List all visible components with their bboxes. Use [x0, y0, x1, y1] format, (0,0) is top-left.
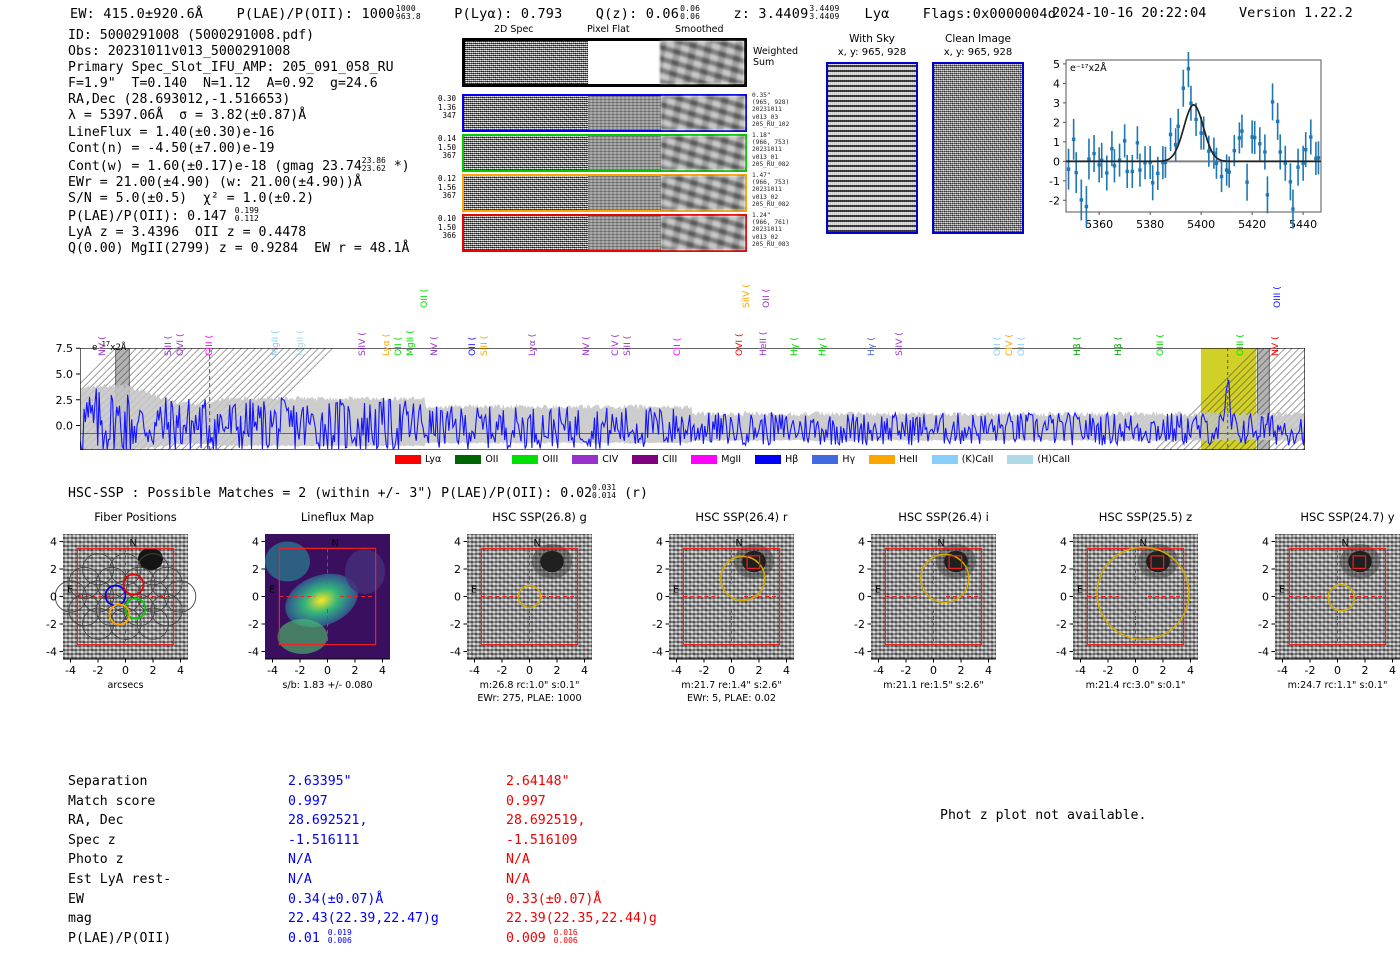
svg-text:2: 2: [756, 664, 763, 677]
hsc-panel-title-3: HSC SSP(26.4) r: [649, 510, 834, 524]
hsc-panel-title-4: HSC SSP(26.4) i: [851, 510, 1036, 524]
legend-item-Hβ: Hβ: [755, 454, 798, 465]
legend-swatch: [455, 455, 481, 464]
emission-line-label-10: OII (: [419, 289, 430, 308]
info-lambda-sigma: λ = 5397.06Å σ = 3.82(±0.87)Å: [68, 108, 410, 124]
strip-row-1-metrics: 0.301.36347: [426, 95, 456, 121]
svg-text:7.5: 7.5: [56, 342, 74, 355]
legend-swatch: [632, 455, 658, 464]
match-table-value: 0.01 0.0190.006: [288, 929, 439, 949]
info-lineflux: LineFlux = 1.40(±0.30)e-16: [68, 125, 410, 141]
compass-n: N: [130, 538, 137, 549]
match-plae-range: 0.0190.006: [328, 929, 352, 945]
svg-text:0: 0: [858, 591, 865, 604]
emission-line-label-11: NV (: [429, 336, 440, 356]
svg-text:0: 0: [930, 664, 937, 677]
legend-swatch: [572, 455, 598, 464]
emission-line-label-28: CIV (: [1004, 334, 1015, 356]
emission-line-label-20: SiIV (: [741, 284, 752, 308]
legend-item-OII: OII: [455, 454, 498, 465]
info-mgii: Q(0.00) MgII(2799) z = 0.9284 EW r = 48.…: [68, 241, 410, 257]
info-cont-w-range: 23.8623.62: [362, 157, 386, 173]
svg-text:4: 4: [985, 664, 992, 677]
emission-line-label-2: OVI (: [175, 333, 186, 356]
header-timestamp-version: 2024-10-16 20:22:04 Version 1.22.2: [1052, 5, 1353, 21]
info-obs: Obs: 20231011v013_5000291008: [68, 44, 410, 60]
svg-text:0: 0: [454, 591, 461, 604]
strip-row-fiber-2: [462, 134, 747, 172]
legend-item-Hγ: Hγ: [812, 454, 855, 465]
svg-text:-4: -4: [1075, 664, 1086, 677]
strip-row-2-meta: 1.18"(966, 753)20231011v013_01205_RU_082: [752, 132, 789, 168]
match-table-value: 0.009 0.0160.006: [506, 929, 657, 949]
match-table-col-2: 2.64148"0.99728.692519, -1.516109N/AN/A0…: [506, 772, 657, 948]
svg-text:0: 0: [1132, 664, 1139, 677]
svg-text:-1: -1: [1049, 175, 1060, 188]
info-z-solutions: LyA z = 3.4396 OII z = 0.4478: [68, 225, 410, 241]
svg-text:4: 4: [858, 536, 865, 549]
header-datetime: 2024-10-16 20:22:04: [1052, 5, 1206, 21]
svg-text:4: 4: [1187, 664, 1194, 677]
info-cont-n: Cont(n) = -4.50(±7.00)e-19: [68, 141, 410, 157]
match-table-label: P(LAE)/P(OII): [68, 929, 171, 949]
emission-line-label-23: Hγ (: [789, 337, 800, 356]
svg-text:4: 4: [50, 536, 57, 549]
svg-text:2.5: 2.5: [56, 394, 74, 407]
emission-line-label-32: OIII (: [1155, 334, 1166, 356]
svg-text:2: 2: [656, 563, 663, 576]
hsc-panel-caption1-2: m:26.8 rc:1.0" s:0.1": [427, 679, 632, 692]
hsc-panel-0[interactable]: NE-4-2024420-2-4: [33, 532, 204, 699]
strip-row-3-meta: 1.47"(966, 753)20231011v013_02205_RU_082: [752, 172, 789, 208]
compass-n: N: [1342, 538, 1349, 549]
legend-item-(H)CaII: (H)CaII: [1007, 454, 1070, 465]
match-table-value: 0.34(±0.07)Å: [288, 890, 439, 910]
legend-swatch: [869, 455, 895, 464]
match-table-value: 28.692519, -1.516109: [506, 811, 657, 850]
svg-text:4: 4: [379, 664, 386, 677]
svg-text:-4: -4: [1258, 646, 1269, 659]
svg-text:0: 0: [1053, 155, 1060, 168]
svg-text:-2: -2: [46, 618, 57, 631]
photoz-note: Phot z plot not available.: [940, 808, 1146, 823]
match-table-label: Spec z: [68, 831, 171, 851]
svg-text:-4: -4: [469, 664, 480, 677]
legend-label: OII: [485, 454, 498, 465]
info-radec: RA,Dec (28.693012,-1.516653): [68, 92, 410, 108]
svg-text:2: 2: [1160, 664, 1167, 677]
svg-text:2: 2: [252, 563, 259, 576]
legend-label: CIII: [662, 454, 677, 465]
svg-text:0: 0: [252, 591, 259, 604]
svg-text:2: 2: [554, 664, 561, 677]
svg-text:2: 2: [1053, 116, 1060, 129]
svg-text:-4: -4: [450, 646, 461, 659]
weighted-sum-label-2: Sum: [753, 57, 774, 68]
emission-line-label-15: NV (: [581, 336, 592, 356]
cutout-title-with-sky: With Sky: [822, 33, 922, 45]
svg-text:-4: -4: [854, 646, 865, 659]
info-plae: P(LAE)/P(OII): 0.147 0.1990.112: [68, 207, 410, 225]
legend-label: Hγ: [842, 454, 855, 465]
legend-label: (K)CaII: [962, 454, 994, 465]
legend-swatch: [755, 455, 781, 464]
hsc-panel-caption2-2: EWr: 275, PLAE: 1000: [427, 692, 632, 705]
hsc-panel-caption1-4: m:21.1 re:1.5" s:2.6": [831, 679, 1036, 692]
svg-text:-2: -2: [699, 664, 710, 677]
compass-e: E: [673, 585, 679, 596]
emission-line-label-16: CIV (: [610, 334, 621, 356]
header-flags: Flags:0x0000004d: [923, 6, 1056, 22]
svg-text:5420: 5420: [1238, 218, 1266, 231]
compass-n: N: [534, 538, 541, 549]
emission-line-label-18: CII (: [672, 338, 683, 356]
emission-line-label-33: OIII (: [1235, 334, 1246, 356]
legend-item-HeII: HeII: [869, 454, 918, 465]
emission-line-label-5: MgII (: [295, 330, 306, 356]
svg-text:5400: 5400: [1187, 218, 1215, 231]
match-table-value: 22.43(22.39,22.47)g: [288, 909, 439, 929]
match-table-label: Photo z: [68, 850, 171, 870]
svg-text:-2: -2: [93, 664, 104, 677]
compass-n: N: [938, 538, 945, 549]
strip-row-fiber-3: [462, 174, 747, 212]
svg-text:2: 2: [454, 563, 461, 576]
info-primary-spec: Primary Spec_Slot_IFU_AMP: 205_091_058_R…: [68, 60, 410, 76]
legend-label: CIV: [602, 454, 618, 465]
svg-text:-4: -4: [65, 664, 76, 677]
compass-e: E: [67, 585, 73, 596]
strip-row-4-meta: 1.24"(966, 761)20231011v013_02205_RU_083: [752, 212, 789, 248]
hsc-panel-caption1-0: arcsecs: [23, 679, 228, 692]
svg-text:2: 2: [958, 664, 965, 677]
svg-text:-4: -4: [1277, 664, 1288, 677]
svg-text:-2: -2: [450, 618, 461, 631]
emission-line-label-31: Hβ (: [1113, 337, 1124, 356]
match-table-value: N/A: [506, 850, 657, 870]
emission-line-label-9: MgII (: [405, 330, 416, 356]
match-table-label: RA, Dec: [68, 811, 171, 831]
cutout-sub-with-sky: x, y: 965, 928: [822, 47, 922, 58]
svg-text:0: 0: [728, 664, 735, 677]
info-plae-range: 0.1990.112: [235, 207, 259, 223]
header-summary-line: EW: 415.0±920.6Å P(LAE)/P(OII): 10001000…: [70, 5, 1056, 22]
info-ewr: EWr = 21.00(±4.90) (w: 21.00(±4.90))Å: [68, 175, 410, 191]
emission-line-label-24: Hγ (: [817, 337, 828, 356]
svg-text:0: 0: [1262, 591, 1269, 604]
match-table-value: N/A: [288, 850, 439, 870]
svg-text:0: 0: [324, 664, 331, 677]
hsc-panel-2[interactable]: NE-4-2024420-2-4: [437, 532, 608, 699]
emission-line-label-0: NV (: [97, 336, 108, 356]
compass-e: E: [1077, 585, 1083, 596]
legend-label: Hβ: [785, 454, 798, 465]
svg-text:0: 0: [656, 591, 663, 604]
strip-row-2-metrics: 0.141.50367: [426, 135, 456, 161]
match-table-value: 28.692521, -1.516111: [288, 811, 439, 850]
svg-text:-4: -4: [248, 646, 259, 659]
hsc-panel-caption2-3: EWr: 5, PLAE: 0.02: [629, 692, 834, 705]
emission-line-label-29: OII (: [1016, 337, 1027, 356]
hsc-panel-title-2: HSC SSP(26.8) g: [447, 510, 632, 524]
detection-info-block: ID: 5000291008 (5000291008.pdf) Obs: 202…: [68, 28, 410, 257]
legend-item-CIV: CIV: [572, 454, 618, 465]
strip-row-3-metrics: 0.121.56367: [426, 175, 456, 201]
compass-e: E: [875, 585, 881, 596]
svg-text:0: 0: [526, 664, 533, 677]
cutout-image-with-sky: [826, 62, 918, 234]
match-table-value: 2.63395": [288, 772, 439, 792]
emission-line-legend: LyαOIIOIIICIVCIIIMgIIHβHγHeII(K)CaII(H)C…: [395, 454, 1070, 465]
legend-item-(K)CaII: (K)CaII: [932, 454, 994, 465]
info-sn-chi2: S/N = 5.0(±0.5) χ² = 1.0(±0.2): [68, 191, 410, 207]
emission-line-label-4: MgII (: [270, 330, 281, 356]
emission-line-label-27: OII (: [992, 337, 1003, 356]
legend-label: OIII: [542, 454, 558, 465]
svg-text:2: 2: [150, 664, 157, 677]
emission-line-label-3: CIII (: [204, 335, 215, 356]
emission-line-label-34: NV (: [1270, 336, 1281, 356]
strip-row-weighted-sum: [462, 38, 747, 87]
emission-line-label-1: SiII (: [163, 336, 174, 356]
legend-swatch: [691, 455, 717, 464]
legend-item-MgII: MgII: [691, 454, 741, 465]
svg-text:-2: -2: [295, 664, 306, 677]
svg-text:-4: -4: [267, 664, 278, 677]
svg-text:2: 2: [1060, 563, 1067, 576]
svg-text:-2: -2: [1258, 618, 1269, 631]
svg-text:4: 4: [252, 536, 259, 549]
svg-text:2: 2: [50, 563, 57, 576]
svg-text:2: 2: [352, 664, 359, 677]
svg-text:-2: -2: [1049, 194, 1060, 207]
hsc-heading-range: 0.0310.014: [592, 484, 616, 500]
header-plya: P(Lyα): 0.793: [454, 6, 562, 22]
info-seeing: F=1.9" T=0.140 N=1.12 A=0.92 g=24.6: [68, 76, 410, 92]
svg-text:5360: 5360: [1085, 218, 1113, 231]
emission-line-label-8: OII (: [393, 337, 404, 356]
twod-spec-strip: 2D Spec Pixel Flat Smoothed Weighted Sum…: [462, 33, 747, 248]
hsc-panel-6[interactable]: NE-4-2024420-2-4: [1245, 532, 1400, 699]
strip-row-fiber-1: [462, 94, 747, 132]
svg-text:4: 4: [656, 536, 663, 549]
header-z-line: Lyα: [865, 6, 890, 22]
svg-text:2: 2: [1262, 563, 1269, 576]
svg-text:4: 4: [177, 664, 184, 677]
svg-text:-4: -4: [1056, 646, 1067, 659]
strip-title-pixelflat: Pixel Flat: [587, 24, 630, 35]
match-table-labels: SeparationMatch scoreRA, DecSpec zPhoto …: [68, 772, 171, 948]
header-z-range: 3.44093.4409: [809, 5, 839, 21]
cutout-sub-clean: x, y: 965, 928: [928, 47, 1028, 58]
svg-text:-2: -2: [652, 618, 663, 631]
hsc-panel-title-5: HSC SSP(25.5) z: [1053, 510, 1238, 524]
legend-swatch: [1007, 455, 1033, 464]
legend-swatch: [932, 455, 958, 464]
strip-row-fiber-4: [462, 214, 747, 252]
compass-e: E: [269, 585, 275, 596]
hsc-panel-title-6: HSC SSP(24.7) y: [1255, 510, 1400, 524]
svg-text:-2: -2: [901, 664, 912, 677]
svg-text:-2: -2: [1103, 664, 1114, 677]
header-qz: Q(z): 0.06: [596, 6, 679, 22]
emission-line-label-35: OIII (: [1272, 286, 1283, 308]
weighted-sum-label-1: Weighted: [753, 46, 798, 57]
svg-text:4: 4: [581, 664, 588, 677]
svg-text:4: 4: [1262, 536, 1269, 549]
hsc-panel-1[interactable]: NE-4-2024420-2-4: [235, 532, 406, 699]
legend-item-OIII: OIII: [512, 454, 558, 465]
info-id: ID: 5000291008 (5000291008.pdf): [68, 28, 410, 44]
svg-text:e⁻¹⁷x2Å: e⁻¹⁷x2Å: [1070, 62, 1107, 74]
emission-line-label-12: OII (: [467, 337, 478, 356]
emission-line-label-17: SiII (: [622, 336, 633, 356]
emission-line-label-6: SiIV (: [357, 332, 368, 356]
hsc-panel-caption1-3: m:21.7 re:1.4" s:2.6": [629, 679, 834, 692]
header-ew: EW: 415.0±920.6Å: [70, 6, 203, 22]
legend-item-CIII: CIII: [632, 454, 677, 465]
svg-text:2: 2: [858, 563, 865, 576]
hsc-panel-caption1-1: s/b: 1.83 +/- 0.080: [225, 679, 430, 692]
svg-text:4: 4: [1053, 77, 1060, 90]
match-table-label: Match score: [68, 792, 171, 812]
match-table-value: N/A: [506, 870, 657, 890]
emission-line-label-7: Lyα (: [381, 334, 392, 356]
header-version: Version 1.22.2: [1239, 5, 1353, 21]
hsc-panel-3[interactable]: NE-4-2024420-2-4: [639, 532, 810, 699]
header-qz-range: 0.060.06: [680, 5, 700, 21]
hsc-panel-caption1-6: m:24.7 rc:1.1" s:0.1": [1235, 679, 1400, 692]
match-plae-range: 0.0160.006: [554, 929, 578, 945]
svg-text:-2: -2: [854, 618, 865, 631]
emission-line-label-22: HeII (: [758, 332, 769, 357]
svg-text:4: 4: [454, 536, 461, 549]
svg-text:4: 4: [1389, 664, 1396, 677]
legend-label: MgII: [721, 454, 741, 465]
match-table-value: N/A: [288, 870, 439, 890]
strip-title-2dspec: 2D Spec: [494, 24, 534, 35]
svg-text:1: 1: [1053, 136, 1060, 149]
emission-line-label-30: Hβ (: [1072, 337, 1083, 356]
hsc-panel-title-1: Lineflux Map: [245, 510, 430, 524]
compass-n: N: [332, 538, 339, 549]
match-table-value: 22.39(22.35,22.44)g: [506, 909, 657, 929]
svg-text:0: 0: [1334, 664, 1341, 677]
header-plae-range: 1000963.8: [396, 5, 421, 21]
hsc-section-heading: HSC-SSP : Possible Matches = 2 (within +…: [68, 484, 648, 501]
svg-text:5380: 5380: [1136, 218, 1164, 231]
svg-text:4: 4: [783, 664, 790, 677]
emission-line-label-26: SiIV (: [894, 332, 905, 356]
strip-title-smoothed: Smoothed: [675, 24, 724, 35]
legend-item-Lyα: Lyα: [395, 454, 441, 465]
legend-label: HeII: [899, 454, 918, 465]
svg-text:-2: -2: [248, 618, 259, 631]
legend-label: (H)CaII: [1037, 454, 1070, 465]
svg-text:4: 4: [1060, 536, 1067, 549]
svg-text:0: 0: [122, 664, 129, 677]
match-table-value: 0.997: [288, 792, 439, 812]
hsc-panel-5[interactable]: NE-4-2024420-2-4: [1043, 532, 1214, 699]
match-table-label: Est LyA rest-EW: [68, 870, 171, 909]
line-fit-plot: -2-101234553605380540054205440e⁻¹⁷x2Å: [1036, 52, 1326, 247]
legend-swatch: [812, 455, 838, 464]
match-table-label: Separation: [68, 772, 171, 792]
strip-row-4-metrics: 0.101.50366: [426, 215, 456, 241]
svg-text:-4: -4: [46, 646, 57, 659]
compass-e: E: [1279, 585, 1285, 596]
emission-line-label-14: Lyα (: [527, 334, 538, 356]
compass-n: N: [736, 538, 743, 549]
emission-line-label-25: Hγ (: [866, 337, 877, 356]
svg-text:-4: -4: [873, 664, 884, 677]
match-table-value: 0.997: [506, 792, 657, 812]
svg-text:-4: -4: [652, 646, 663, 659]
cutout-image-clean: [932, 62, 1024, 234]
header-z: z: 3.4409: [733, 6, 808, 22]
svg-text:0.0: 0.0: [56, 420, 74, 433]
strip-row-1-meta: 0.35"(965, 928)20231011v013_03205_RU_102: [752, 92, 789, 128]
match-table-value: 0.33(±0.07)Å: [506, 890, 657, 910]
emission-line-label-19: OVI (: [734, 333, 745, 356]
match-table-col-1: 2.63395"0.99728.692521, -1.516111N/AN/A0…: [288, 772, 439, 948]
legend-label: Lyα: [425, 454, 441, 465]
svg-text:-2: -2: [1305, 664, 1316, 677]
hsc-panel-4[interactable]: NE-4-2024420-2-4: [841, 532, 1012, 699]
cutout-title-clean: Clean Image: [928, 33, 1028, 45]
svg-text:-4: -4: [671, 664, 682, 677]
emission-line-label-21: OII (: [761, 289, 772, 308]
svg-text:0: 0: [1060, 591, 1067, 604]
info-cont-w: Cont(w) = 1.60(±0.17)e-18 (gmag 23.7423.…: [68, 157, 410, 175]
svg-text:5.0: 5.0: [56, 368, 74, 381]
legend-swatch: [512, 455, 538, 464]
compass-e: E: [471, 585, 477, 596]
svg-text:-2: -2: [1056, 618, 1067, 631]
svg-text:-2: -2: [497, 664, 508, 677]
svg-text:2: 2: [1362, 664, 1369, 677]
emission-line-label-13: SiII (: [479, 336, 490, 356]
hsc-panel-title-0: Fiber Positions: [43, 510, 228, 524]
svg-text:0: 0: [50, 591, 57, 604]
hsc-panel-caption1-5: m:21.4 rc:3.0" s:0.1": [1033, 679, 1238, 692]
svg-text:5: 5: [1053, 58, 1060, 71]
header-plae: P(LAE)/P(OII): 1000: [237, 6, 395, 22]
match-table-label: mag: [68, 909, 171, 929]
svg-text:3: 3: [1053, 97, 1060, 110]
match-table-value: 2.64148": [506, 772, 657, 792]
legend-swatch: [395, 455, 421, 464]
